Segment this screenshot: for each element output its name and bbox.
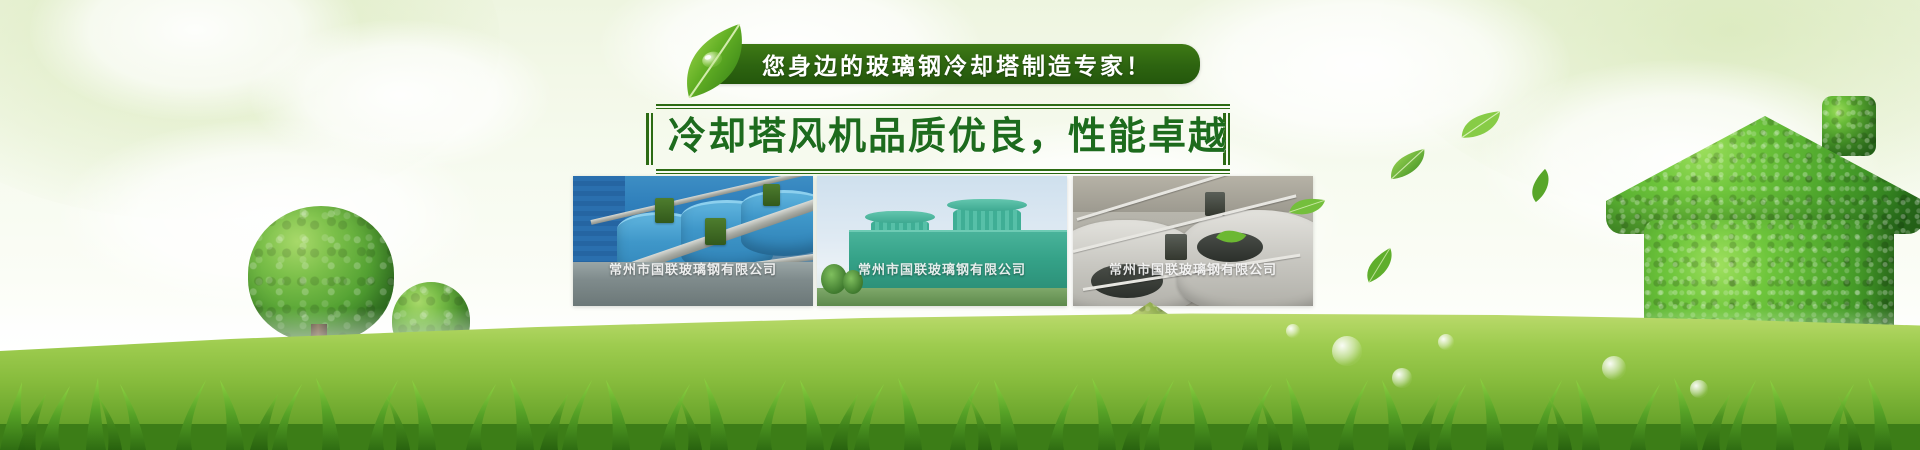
headline-rule-top xyxy=(656,104,1230,109)
sky-haze-left xyxy=(0,0,500,220)
photo2-tree-2 xyxy=(843,270,863,294)
photo1-motor-1 xyxy=(655,198,674,223)
headline-bar-left xyxy=(646,113,653,165)
cloud-1 xyxy=(30,0,360,120)
tagline-text: 您身边的玻璃钢冷却塔制造专家！ xyxy=(762,46,1152,86)
eco-product-banner: 您身边的玻璃钢冷却塔制造专家！ 冷却塔风机品质优良，性能卓越 常州市国联玻璃钢有… xyxy=(0,0,1920,450)
photo1-motor-3 xyxy=(763,184,780,206)
photo3-motor-2 xyxy=(1165,234,1187,260)
grass-house-chimney xyxy=(1822,96,1876,156)
photo2-building-body xyxy=(849,230,1067,292)
photo1-motor-2 xyxy=(705,218,726,245)
page-title: 冷却塔风机品质优良，性能卓越 xyxy=(668,112,1208,162)
leaf-4 xyxy=(1456,109,1505,142)
leaf-icon xyxy=(664,19,766,106)
leaf-1 xyxy=(1383,146,1432,183)
big-tree-crown xyxy=(248,206,394,342)
leaf-6 xyxy=(1522,167,1560,206)
headline-frame: 冷却塔风机品质优良，性能卓越 xyxy=(646,104,1230,166)
photo3-fan-opening-right xyxy=(1197,232,1263,262)
blue-cooling-tanks-photo[interactable]: 常州市国联玻璃钢有限公司 xyxy=(573,176,813,306)
leaf-3 xyxy=(1357,245,1404,287)
tagline-banner: 您身边的玻璃钢冷却塔制造专家！ xyxy=(700,44,1152,88)
cooling-tower-building-photo[interactable]: 常州市国联玻璃钢有限公司 xyxy=(817,176,1067,306)
rooftop-cooling-units-photo[interactable]: 常州市国联玻璃钢有限公司 xyxy=(1073,176,1313,306)
cloud-2 xyxy=(250,20,550,170)
photo1-deck xyxy=(573,262,813,306)
grass-house-chimney-texture xyxy=(1822,96,1876,156)
headline-rule-bottom xyxy=(656,169,1230,174)
